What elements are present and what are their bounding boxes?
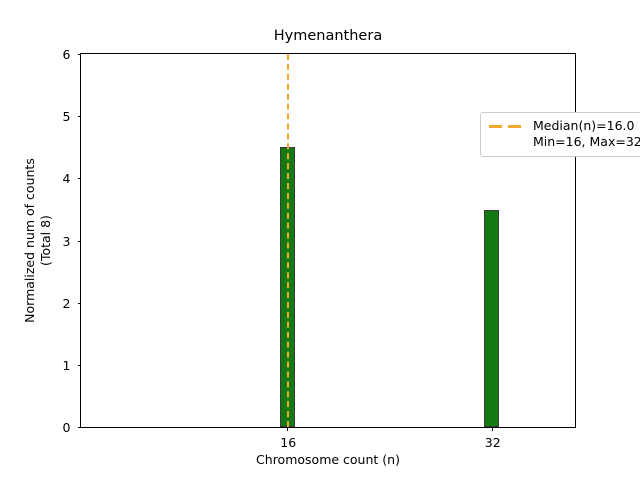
xtick-label-32: 32 [485, 437, 501, 450]
xtick-mark-32: 32 [492, 427, 493, 431]
xtick-mark-16: 16 [287, 427, 288, 431]
ytick-label-5: 5 [63, 111, 71, 124]
x-axis-label: Chromosome count (n) [80, 452, 576, 467]
ytick-mark-3: 3 [78, 241, 82, 242]
ytick-mark-4: 4 [78, 178, 82, 179]
xtick-label-16: 16 [280, 437, 296, 450]
ytick-label-3: 3 [63, 235, 71, 248]
legend-entry-median: Median(n)=16.0 [488, 118, 640, 134]
chart-title: Hymenanthera [80, 27, 576, 45]
plot-area: 6 5 4 3 2 1 0 16 32 [80, 53, 576, 428]
legend-label-minmax: Min=16, Max=32 [533, 134, 640, 150]
ytick-label-2: 2 [63, 297, 71, 310]
legend-label-median: Median(n)=16.0 [533, 118, 634, 134]
bar-32 [484, 210, 499, 427]
ytick-label-0: 0 [63, 422, 71, 435]
ytick-label-4: 4 [63, 173, 71, 186]
legend-entry-minmax: Min=16, Max=32 [488, 134, 640, 150]
y-axis-label: Normalized num of counts (Total 8) [22, 53, 62, 428]
dashed-line-icon [488, 120, 524, 132]
y-axis-label-main: Normalized num of counts [22, 53, 38, 428]
ytick-mark-5: 5 [78, 116, 82, 117]
ytick-mark-6: 6 [78, 54, 82, 55]
ytick-label-1: 1 [63, 360, 71, 373]
legend: Median(n)=16.0 Min=16, Max=32 [480, 112, 640, 157]
ytick-mark-0: 0 [78, 427, 82, 428]
ytick-label-6: 6 [63, 49, 71, 62]
y-axis-label-sub: (Total 8) [38, 53, 54, 428]
ytick-mark-1: 1 [78, 365, 82, 366]
ytick-mark-2: 2 [78, 303, 82, 304]
median-line [287, 54, 289, 427]
figure-canvas: Hymenanthera 6 5 4 3 2 1 0 16 [0, 0, 640, 480]
